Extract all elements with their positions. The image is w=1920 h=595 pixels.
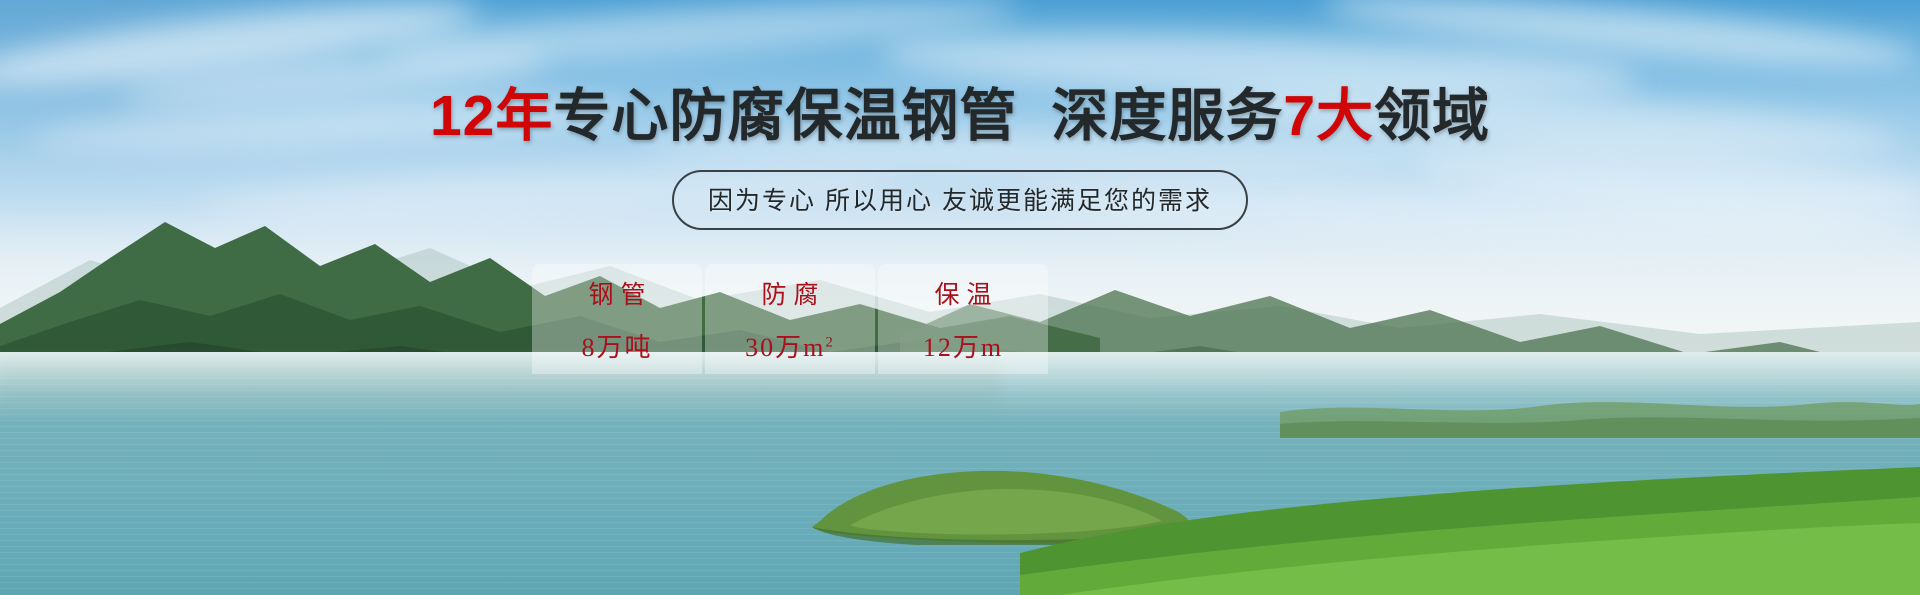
stat-value-text: 12万m	[923, 333, 1003, 362]
stat-card-label: 钢管	[581, 275, 652, 311]
page-title: 12年专心防腐保温钢管深度服务7大领域	[0, 88, 1920, 145]
headline-segment-domains: 领域	[1374, 84, 1490, 148]
stat-card-label: 保温	[927, 275, 998, 311]
stat-value-text: 8万吨	[581, 333, 652, 362]
stat-card-anticorrosion[interactable]: 防腐 30万m2	[705, 264, 875, 374]
stat-card-steel-pipe[interactable]: 钢管 8万吨	[532, 264, 702, 374]
hero-banner: 12年专心防腐保温钢管深度服务7大领域 因为专心 所以用心 友诚更能满足您的需求…	[0, 0, 1920, 595]
stat-card-insulation[interactable]: 保温 12万m	[878, 264, 1048, 374]
stat-card-value: 8万吨	[581, 327, 652, 364]
subtitle-pill: 因为专心 所以用心 友诚更能满足您的需求	[672, 170, 1248, 230]
stat-value-text: 30万m	[745, 333, 825, 362]
headline-segment-service: 深度服务	[1051, 84, 1283, 148]
headline-years-unit: 年	[495, 84, 553, 148]
subtitle-container: 因为专心 所以用心 友诚更能满足您的需求	[0, 170, 1920, 230]
headline-segment-main: 专心防腐保温钢管	[553, 84, 1017, 148]
stat-card-group: 钢管 8万吨 防腐 30万m2 保温 12万m	[532, 264, 1048, 374]
stat-card-value: 12万m	[923, 327, 1003, 364]
foreground-grass	[1020, 405, 1920, 595]
stat-value-superscript: 2	[825, 334, 835, 350]
headline-fields-number: 7	[1283, 84, 1316, 148]
stat-card-label: 防腐	[754, 275, 825, 311]
headline-fields-unit: 大	[1316, 84, 1374, 148]
headline-years-number: 12	[430, 84, 495, 148]
stat-card-value: 30万m2	[745, 327, 835, 364]
